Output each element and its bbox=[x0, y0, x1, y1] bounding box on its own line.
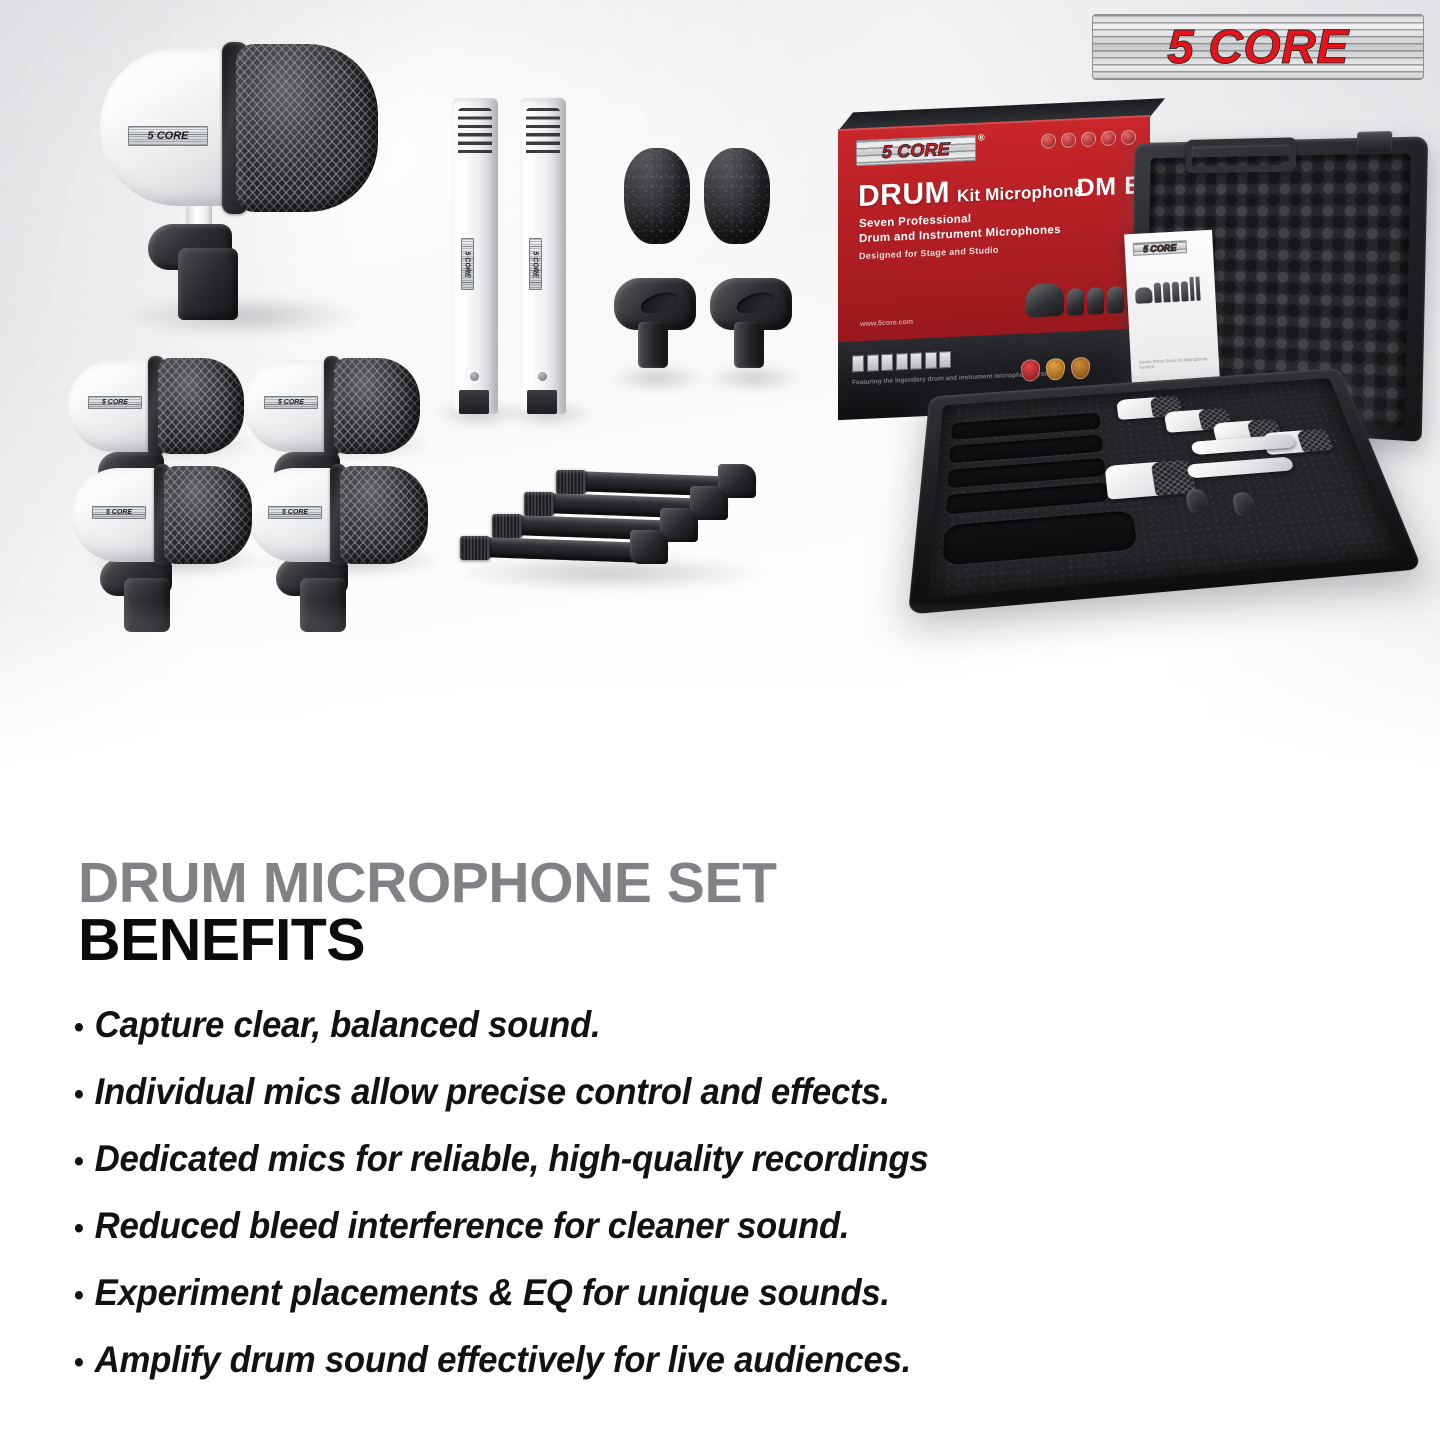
benefit-item: •Experiment placements & EQ for unique s… bbox=[74, 1272, 1070, 1314]
case-latch bbox=[1357, 131, 1393, 152]
kick-mic-brand-badge: 5 CORE bbox=[128, 126, 208, 146]
bullet-icon: • bbox=[74, 1348, 95, 1378]
rim-clamp-1-thumbscrew bbox=[556, 470, 586, 494]
tom-1-grille bbox=[158, 358, 244, 454]
case-mic-clip-2 bbox=[1231, 492, 1257, 517]
artwork-tom-mic-3 bbox=[1107, 286, 1124, 314]
box-title-main: DRUM bbox=[858, 176, 950, 213]
logo-number: 5 bbox=[1143, 244, 1149, 254]
box-feature-icon-row bbox=[1041, 130, 1136, 149]
feature-icon-5 bbox=[1121, 130, 1136, 146]
box-front-face: 5CORE ® DRUMKit Microphone Seven Profess… bbox=[838, 115, 1150, 344]
tom-1-brand-badge: 5 CORE bbox=[88, 396, 142, 409]
logo-number: 5 bbox=[1167, 21, 1194, 74]
feature-icon-3 bbox=[1081, 131, 1096, 147]
benefit-text: Individual mics allow precise control an… bbox=[95, 1071, 890, 1113]
clip-2-shaft bbox=[734, 322, 764, 368]
case-handle bbox=[1185, 137, 1297, 173]
pencil-1-grille-slots bbox=[458, 108, 492, 154]
manual-art-tom-1 bbox=[1154, 283, 1162, 303]
benefit-item: •Capture clear, balanced sound. bbox=[74, 1004, 1070, 1046]
tom-4-grille bbox=[340, 466, 428, 564]
logo-text: 5CORE bbox=[1143, 242, 1177, 254]
manual-art-pencil-2 bbox=[1195, 277, 1200, 301]
box-five-core-logo: 5CORE bbox=[856, 135, 976, 166]
logo-number: 5 bbox=[882, 141, 892, 161]
benefit-text: Capture clear, balanced sound. bbox=[95, 1004, 601, 1046]
foam-slot-4 bbox=[946, 483, 1108, 515]
foam-slot-cable-pocket bbox=[942, 510, 1137, 566]
badge-text: 5 CORE bbox=[278, 399, 304, 406]
logo-word: CORE bbox=[897, 138, 950, 160]
badge-text: 5 CORE bbox=[532, 251, 539, 277]
case-mic-pencil-2 bbox=[1186, 457, 1294, 479]
benefit-item: •Dedicated mics for reliable, high-quali… bbox=[74, 1138, 1070, 1180]
benefit-text: Dedicated mics for reliable, high-qualit… bbox=[95, 1138, 929, 1180]
box-product-title: DRUMKit Microphone bbox=[858, 170, 1084, 214]
tom-2-grille bbox=[334, 358, 420, 454]
benefit-text: Experiment placements & EQ for unique so… bbox=[95, 1272, 890, 1314]
bullet-icon: • bbox=[74, 1281, 95, 1311]
pictogram-4 bbox=[896, 353, 908, 371]
bullet-icon: • bbox=[74, 1013, 95, 1043]
manual-art-tom-2 bbox=[1163, 282, 1171, 302]
feature-icon-4 bbox=[1101, 130, 1116, 146]
page-title-secondary: BENEFITS bbox=[78, 906, 365, 974]
benefit-text: Reduced bleed interference for cleaner s… bbox=[95, 1205, 850, 1247]
kick-mic-clamp-base bbox=[178, 248, 238, 320]
tom-3-clamp-base bbox=[124, 578, 170, 632]
pencil-2-indicator-dot bbox=[538, 372, 547, 381]
box-quality-seal-row bbox=[1021, 357, 1090, 382]
tom-4-clamp-base bbox=[300, 578, 346, 632]
logo-word: CORE bbox=[1208, 21, 1349, 74]
five-core-logo: 5CORE bbox=[1092, 14, 1424, 80]
tom-2-brand-badge: 5 CORE bbox=[264, 396, 318, 409]
pencil-2-connector-plate bbox=[527, 390, 557, 414]
manual-art-kick-mic bbox=[1135, 287, 1153, 304]
logo-text: 5CORE bbox=[1167, 20, 1349, 75]
mic-clip-1-shadow bbox=[612, 366, 704, 390]
pencil-1-connector-plate bbox=[459, 390, 489, 414]
tom-3-grille bbox=[164, 466, 252, 564]
artwork-tom-mic-1 bbox=[1067, 288, 1084, 316]
manual-caption: Seven Piece Drum Kit Microphone System bbox=[1139, 356, 1219, 370]
box-website-url: www.5core.com bbox=[860, 319, 913, 328]
logo-text: 5CORE bbox=[882, 138, 950, 162]
instruction-manual: 5CORE DM E7 Seven Piece Drum Kit Microph… bbox=[1124, 230, 1220, 386]
logo-word: CORE bbox=[1150, 242, 1177, 253]
pictogram-2 bbox=[867, 354, 879, 372]
case-mic-kick bbox=[1105, 459, 1197, 499]
badge-text: 5 CORE bbox=[102, 399, 128, 406]
pictogram-5 bbox=[910, 352, 922, 370]
foam-windscreen-2 bbox=[704, 148, 770, 244]
retail-packaging-box: 5CORE ® DRUMKit Microphone Seven Profess… bbox=[838, 115, 1150, 419]
pictogram-6 bbox=[925, 352, 937, 370]
carrying-case-bottom bbox=[908, 368, 1422, 615]
tom-4-brand-badge: 5 CORE bbox=[268, 506, 322, 519]
benefit-text: Amplify drum sound effectively for live … bbox=[95, 1339, 911, 1381]
manual-art-tom-4 bbox=[1181, 281, 1189, 301]
artwork-tom-mic-2 bbox=[1087, 287, 1104, 315]
bullet-icon: • bbox=[74, 1214, 95, 1244]
rim-clamp-2-thumbscrew bbox=[524, 492, 554, 516]
pencil-1-indicator-dot bbox=[470, 372, 479, 381]
case-die-cut-foam bbox=[927, 378, 1400, 598]
foam-windscreen-1 bbox=[624, 148, 690, 244]
feature-icon-1 bbox=[1041, 133, 1056, 149]
quality-seal-3 bbox=[1071, 357, 1090, 380]
benefit-item: •Reduced bleed interference for cleaner … bbox=[74, 1205, 1070, 1247]
pictogram-7 bbox=[939, 351, 951, 369]
kick-mic-grille bbox=[236, 44, 378, 212]
feature-icon-2 bbox=[1061, 132, 1076, 148]
badge-text: 5 CORE bbox=[106, 509, 132, 516]
manual-art-tom-3 bbox=[1172, 282, 1180, 302]
badge-text: 5 CORE bbox=[464, 251, 471, 277]
kick-mic-shadow bbox=[128, 296, 358, 336]
box-description-line-1: Seven Professional bbox=[859, 213, 971, 230]
registered-trademark-symbol: ® bbox=[978, 132, 985, 142]
manual-art-pencil-1 bbox=[1189, 277, 1194, 301]
rim-clamp-3-thumbscrew bbox=[492, 514, 522, 538]
quality-seal-2 bbox=[1046, 358, 1065, 381]
benefits-list: •Capture clear, balanced sound.•Individu… bbox=[74, 1004, 1134, 1406]
pencil-1-brand-badge: 5 CORE bbox=[461, 238, 474, 290]
rim-clamp-4-hook bbox=[630, 530, 668, 564]
box-pictogram-row bbox=[852, 351, 951, 372]
tom-3-brand-badge: 5 CORE bbox=[92, 506, 146, 519]
bullet-icon: • bbox=[74, 1147, 95, 1177]
product-photo-stage: 5CORE 5 CORE 5 CORE bbox=[0, 0, 1440, 830]
quality-seal-1 bbox=[1021, 359, 1040, 382]
manual-cover-artwork bbox=[1134, 276, 1207, 304]
pencil-2-grille-slots bbox=[526, 108, 560, 154]
artwork-kick-mic bbox=[1026, 283, 1064, 318]
pencil-2-brand-badge: 5 CORE bbox=[529, 238, 542, 290]
pictogram-1 bbox=[852, 355, 864, 373]
badge-text: 5 CORE bbox=[148, 130, 189, 142]
benefits-text-panel: DRUM MICROPHONE SET BENEFITS •Capture cl… bbox=[0, 826, 1440, 1440]
rim-clamp-4-thumbscrew bbox=[460, 536, 490, 560]
mic-clip-2-shadow bbox=[708, 366, 800, 390]
box-title-sub: Kit Microphone bbox=[957, 181, 1084, 206]
clip-1-shaft bbox=[638, 322, 668, 368]
bullet-icon: • bbox=[74, 1080, 95, 1110]
pictogram-3 bbox=[881, 354, 893, 372]
benefit-item: •Amplify drum sound effectively for live… bbox=[74, 1339, 1070, 1381]
case-mic-clip-1 bbox=[1185, 488, 1210, 512]
benefit-item: •Individual mics allow precise control a… bbox=[74, 1071, 1070, 1113]
box-description-line-3: Designed for Stage and Studio bbox=[859, 245, 999, 261]
badge-text: 5 CORE bbox=[282, 509, 308, 516]
